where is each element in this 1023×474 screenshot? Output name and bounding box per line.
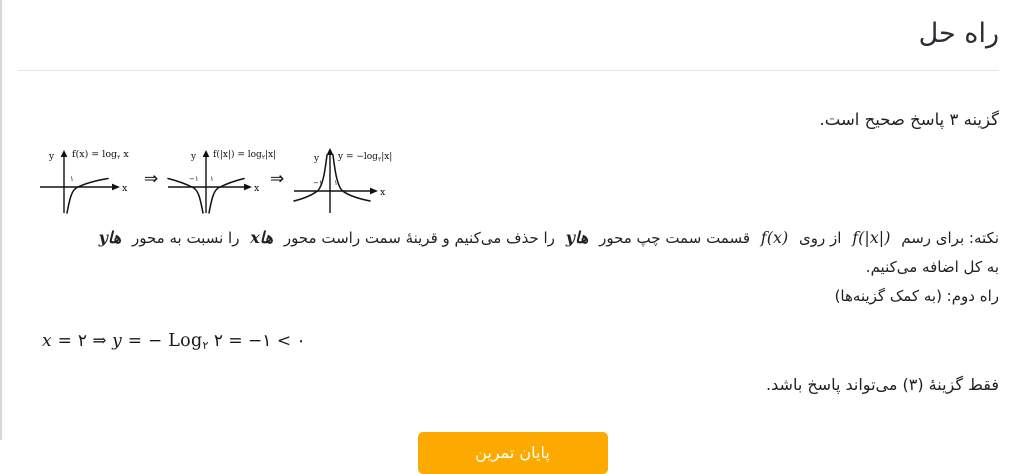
note-paragraph: نکته: برای رسم f(|x|) از روی f(x) قسمت س…: [26, 223, 999, 311]
eq-x: x: [42, 331, 52, 351]
graph-figure-1: ۱ y x f(x) = log۲ x: [34, 147, 162, 215]
graph-1-tick-one: ۱: [70, 175, 74, 183]
graph-2-tick-one: ۱: [210, 175, 214, 183]
graph-3-formula: y = −log۲|x|: [337, 152, 392, 163]
footer-actions: پایان تمرین: [26, 432, 999, 474]
note-mid-four: را نسبت به محور: [132, 229, 239, 247]
eq-equals-1: =: [58, 331, 73, 351]
eq-zero: ۰: [296, 331, 305, 351]
note-line-one: نکته: برای رسم f(|x|) از روی f(x) قسمت س…: [26, 223, 999, 253]
eq-minus: −: [148, 331, 163, 351]
eq-log-base: ۲: [203, 339, 209, 352]
end-exercise-button[interactable]: پایان تمرین: [418, 432, 608, 474]
eq-result: −۱: [248, 331, 271, 351]
eq-y: y: [112, 331, 122, 351]
display-equation: x = ۲ ⇒ y = − Log۲ ۲ = −۱ < ۰: [26, 331, 999, 352]
graph-1-x-label: x: [122, 183, 128, 194]
note-math-fabs: f(|x|): [846, 223, 896, 252]
eq-equals-3: =: [228, 331, 242, 351]
note-axis-x: xها: [244, 223, 279, 252]
graph-3-tick-one: ۱: [334, 179, 338, 187]
solution-content: گزینه ۳ پاسخ صحیح است. ۱ y x: [2, 107, 1023, 474]
graph-1-formula: f(x) = log۲ x: [72, 149, 129, 161]
eq-equals-2: =: [128, 331, 143, 351]
graph-3-y-label: y: [313, 154, 320, 164]
eq-x-value: ۲: [78, 331, 87, 351]
final-conclusion: فقط گزینهٔ (۳) می‌تواند پاسخ باشد.: [26, 372, 999, 398]
note-axis-y-second: yها: [93, 223, 128, 252]
second-method-line: راه دوم: (به کمک گزینه‌ها): [26, 282, 999, 311]
note-prefix: نکته: برای رسم: [901, 229, 999, 247]
solution-page: راه حل گزینه ۳ پاسخ صحیح است. ۱: [0, 0, 1023, 440]
eq-less-than: <: [277, 331, 291, 351]
graph-1-y-label: y: [48, 152, 55, 162]
graph-figure-row: ۱ y x f(x) = log۲ x ⇒: [26, 147, 999, 215]
graph-3-x-label: x: [380, 187, 386, 198]
header-divider: [18, 70, 999, 71]
eq-implies: ⇒: [92, 331, 106, 351]
note-math-fx: f(x): [755, 223, 794, 252]
note-mid-three: را حذف می‌کنیم و قرینهٔ سمت راست محور: [284, 229, 555, 247]
note-tail-line: به کل اضافه می‌کنیم.: [26, 253, 999, 282]
page-title: راه حل: [26, 14, 999, 54]
note-axis-y-first: yها: [560, 223, 595, 252]
implication-arrow-2: ⇒: [270, 169, 284, 189]
correct-answer-statement: گزینه ۳ پاسخ صحیح است.: [26, 107, 999, 133]
graph-figure-3: ۱ −۱ y x y = −log۲|x|: [292, 147, 412, 215]
graph-3-tick-minus-one: −۱: [313, 179, 323, 187]
eq-log: Log: [168, 331, 202, 351]
graph-2-formula: f(|x|) = log۲|x|: [213, 149, 276, 161]
graph-2-x-label: x: [254, 183, 260, 194]
page-header: راه حل: [2, 0, 1023, 54]
graph-2-tick-minus-one: −۱: [189, 175, 199, 183]
implication-arrow-1: ⇒: [144, 169, 158, 189]
eq-log-argument: ۲: [214, 331, 223, 351]
graph-2-y-label: y: [190, 152, 197, 162]
note-mid-two: قسمت سمت چپ محور: [599, 229, 750, 247]
note-mid-one: از روی: [799, 229, 841, 247]
